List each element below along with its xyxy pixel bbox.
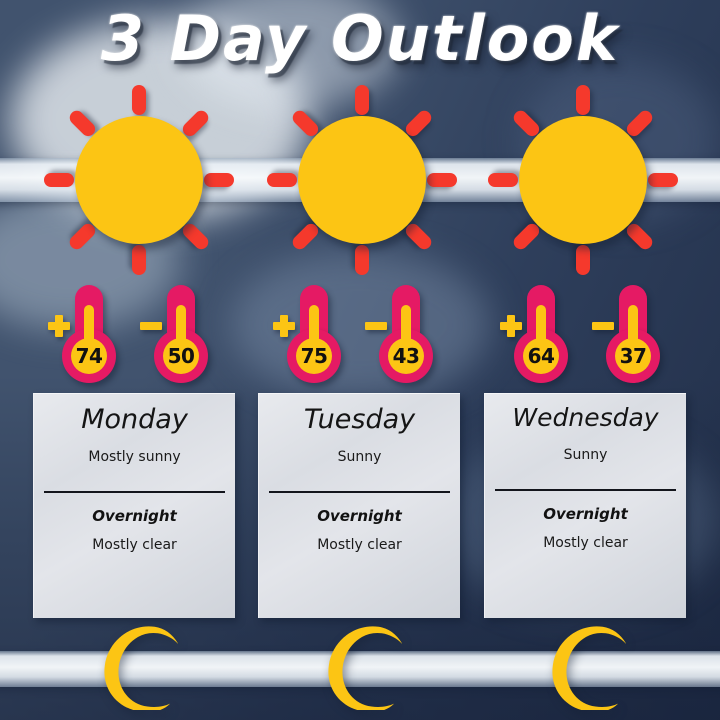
forecast-panel[interactable]: Wednesday Sunny Overnight Mostly clear — [484, 393, 686, 618]
thermometer-icon: 75 — [287, 285, 341, 385]
sun-ray — [204, 173, 234, 187]
forecast-panel[interactable]: Monday Mostly sunny Overnight Mostly cle… — [33, 393, 235, 618]
weather-outlook-graphic: 3 Day Outlook 74 50 Monday Mostly s — [0, 0, 720, 720]
sun-ray — [44, 173, 74, 187]
overnight-condition: Mostly clear — [495, 535, 676, 551]
page-title: 3 Day Outlook — [0, 2, 720, 75]
low-temperature-value: 43 — [393, 346, 420, 366]
low-temperature-value: 50 — [168, 346, 195, 366]
low-temperature-value: 37 — [620, 346, 647, 366]
sun-ray — [180, 221, 211, 252]
sun-icon — [267, 85, 457, 275]
overnight-condition: Mostly clear — [44, 537, 225, 553]
thermometer-icon: 50 — [154, 285, 208, 385]
sun-ray — [624, 221, 655, 252]
overnight-label: Overnight — [44, 507, 225, 525]
sun-ray — [488, 173, 518, 187]
sun-disc — [519, 116, 647, 244]
sun-ray — [648, 173, 678, 187]
sun-disc — [298, 116, 426, 244]
high-temperature-value: 74 — [76, 346, 103, 366]
sun-icon — [44, 85, 234, 275]
overnight-label: Overnight — [269, 507, 450, 525]
crescent-moon-icon — [316, 622, 402, 710]
thermometer-icon: 43 — [379, 285, 433, 385]
day-name: Tuesday — [269, 404, 450, 435]
day-condition: Sunny — [269, 449, 450, 465]
day-name: Wednesday — [495, 404, 676, 433]
sun-ray — [576, 85, 590, 115]
thermometer-icon: 64 — [514, 285, 568, 385]
thermometer-icon: 74 — [62, 285, 116, 385]
panel-divider — [269, 491, 450, 493]
sun-disc — [75, 116, 203, 244]
sun-ray — [132, 85, 146, 115]
high-temperature-value: 75 — [301, 346, 328, 366]
crescent-moon-icon — [540, 622, 626, 710]
day-condition: Sunny — [495, 447, 676, 463]
sun-ray — [355, 85, 369, 115]
panel-divider — [495, 489, 676, 491]
sun-ray — [132, 245, 146, 275]
day-name: Monday — [44, 404, 225, 435]
overnight-condition: Mostly clear — [269, 537, 450, 553]
sun-ray — [576, 245, 590, 275]
high-temperature-value: 64 — [528, 346, 555, 366]
sun-ray — [267, 173, 297, 187]
sun-icon — [488, 85, 678, 275]
sun-ray — [403, 221, 434, 252]
day-condition: Mostly sunny — [44, 449, 225, 465]
sun-ray — [427, 173, 457, 187]
panel-divider — [44, 491, 225, 493]
forecast-panel[interactable]: Tuesday Sunny Overnight Mostly clear — [258, 393, 460, 618]
overnight-label: Overnight — [495, 505, 676, 523]
crescent-moon-icon — [92, 622, 178, 710]
sun-ray — [355, 245, 369, 275]
thermometer-icon: 37 — [606, 285, 660, 385]
